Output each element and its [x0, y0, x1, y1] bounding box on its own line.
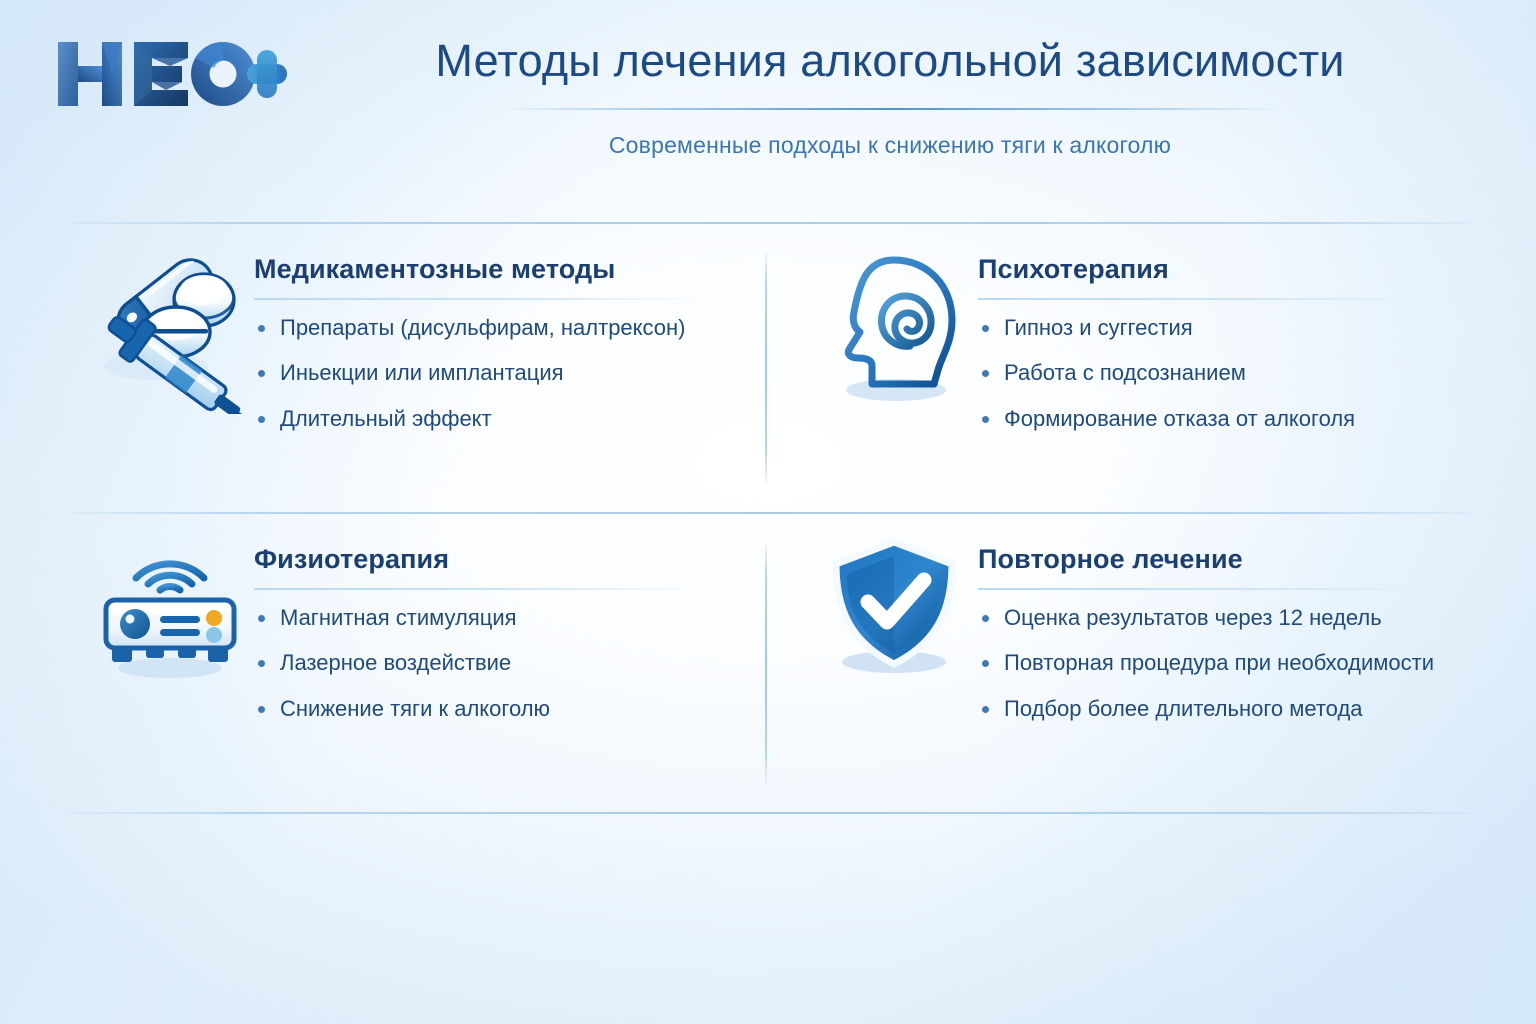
list-item: Повторная процедура при необходимости	[978, 649, 1470, 677]
card-title: Повторное лечение	[978, 544, 1470, 576]
page-subtitle: Современные подходы к снижению тяги к ал…	[300, 132, 1480, 159]
card-body: Повторное лечение Оценка результатов чер…	[978, 534, 1470, 740]
card-medication: Медикаментозные методы Препараты (дисуль…	[86, 244, 746, 450]
page-title: Методы лечения алкогольной зависимости	[300, 36, 1480, 86]
card-bullet-list: Гипноз и суггестия Работа с подсознанием…	[978, 300, 1470, 433]
head-spiral-icon	[810, 244, 978, 414]
card-title: Медикаментозные методы	[254, 254, 746, 286]
list-item: Формирование отказа от алкоголя	[978, 405, 1470, 433]
list-item: Иньекции или имплантация	[254, 359, 746, 387]
card-title: Физиотерапия	[254, 544, 746, 576]
card-body: Медикаментозные методы Препараты (дисуль…	[254, 244, 746, 450]
card-psychotherapy: Психотерапия Гипноз и суггестия Работа с…	[810, 244, 1470, 450]
list-item: Длительный эффект	[254, 405, 746, 433]
list-item: Работа с подсознанием	[978, 359, 1470, 387]
therapy-device-waves-icon	[86, 534, 254, 684]
title-divider	[495, 108, 1285, 110]
list-item: Лазерное воздействие	[254, 649, 746, 677]
header: Методы лечения алкогольной зависимости С…	[0, 0, 1536, 200]
shield-check-icon	[810, 534, 978, 684]
pills-syringe-icon	[86, 244, 254, 414]
infographic-poster: Методы лечения алкогольной зависимости С…	[0, 0, 1536, 1024]
grid-divider-vertical-row2	[765, 542, 767, 784]
card-bullet-list: Препараты (дисульфирам, налтрексон) Инье…	[254, 300, 746, 433]
card-title: Психотерапия	[978, 254, 1470, 286]
list-item: Препараты (дисульфирам, налтрексон)	[254, 314, 746, 342]
card-bullet-list: Оценка результатов через 12 недель Повто…	[978, 590, 1470, 723]
grid-divider-bottom	[70, 812, 1470, 814]
card-physiotherapy: Физиотерапия Магнитная стимуляция Лазерн…	[86, 534, 746, 740]
grid-divider-middle	[70, 512, 1470, 514]
card-body: Психотерапия Гипноз и суггестия Работа с…	[978, 244, 1470, 450]
list-item: Снижение тяги к алкоголю	[254, 695, 746, 723]
list-item: Магнитная стимуляция	[254, 604, 746, 632]
list-item: Гипноз и суггестия	[978, 314, 1470, 342]
neo-plus-logo	[56, 38, 288, 110]
grid-divider-top	[70, 222, 1470, 224]
list-item: Оценка результатов через 12 недель	[978, 604, 1470, 632]
title-block: Методы лечения алкогольной зависимости С…	[300, 36, 1480, 159]
card-repeat-treatment: Повторное лечение Оценка результатов чер…	[810, 534, 1470, 740]
grid-divider-vertical-row1	[765, 252, 767, 484]
list-item: Подбор более длительного метода	[978, 695, 1470, 723]
card-body: Физиотерапия Магнитная стимуляция Лазерн…	[254, 534, 746, 740]
cards-grid: Медикаментозные методы Препараты (дисуль…	[70, 222, 1470, 812]
card-bullet-list: Магнитная стимуляция Лазерное воздействи…	[254, 590, 746, 723]
